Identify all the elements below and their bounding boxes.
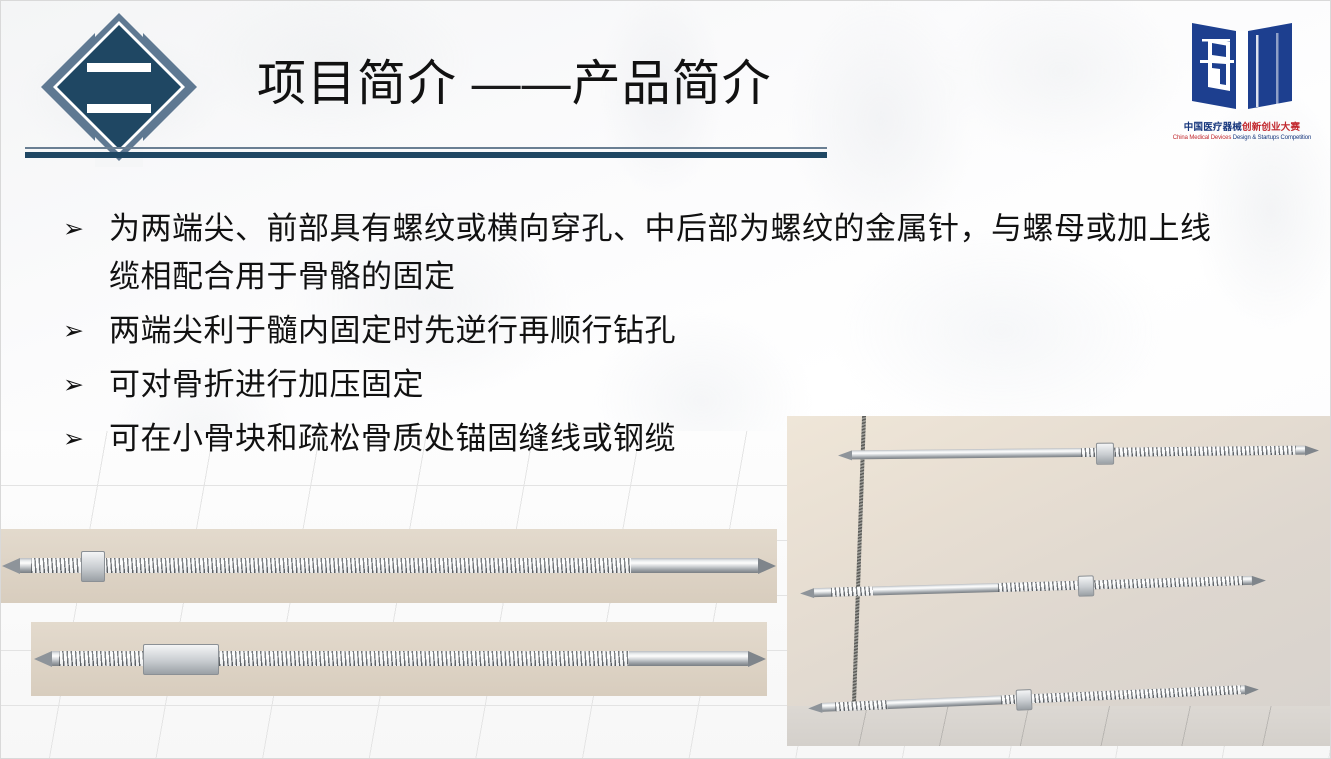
pin-nut (143, 644, 219, 675)
photo-pin-threaded-closeup (31, 622, 767, 696)
list-item-label: 可对骨折进行加压固定 (109, 361, 424, 409)
pin-thread (831, 586, 873, 596)
list-item: ➢ 为两端尖、前部具有螺纹或横向穿孔、中后部为螺纹的金属针，与螺母或加上线缆相配… (63, 205, 1223, 301)
contest-cn-accent: 创新创业大赛 (1242, 122, 1300, 133)
list-item: ➢ 两端尖利于髓内固定时先逆行再顺行钻孔 (63, 307, 1223, 355)
pin-nut (1016, 689, 1033, 711)
photo-three-pins-with-cable (787, 416, 1331, 746)
pin-tip-right (748, 651, 766, 667)
pin-nut (1096, 443, 1114, 465)
slide-root: 项目简介 ——产品简介 中国医疗器械创新创业大赛 China Medical D… (0, 0, 1331, 759)
contest-en-accent: China Medical Devices (1173, 134, 1231, 141)
page-title-sub: 产品简介 (572, 57, 772, 111)
pin-tip-left (838, 450, 852, 460)
list-item-label: 为两端尖、前部具有螺纹或横向穿孔、中后部为螺纹的金属针，与螺母或加上线缆相配合用… (109, 205, 1223, 301)
diamond-section-logo (39, 7, 199, 167)
photo-pin-with-nut-closeup (1, 529, 777, 603)
pin-shaft (51, 651, 749, 666)
pin-tip-left (800, 588, 814, 598)
page-title-main: 项目简介 (257, 57, 457, 111)
pin-tip-right (1252, 575, 1266, 585)
contest-en-plain: Design & Startups Competition (1231, 134, 1311, 141)
open-door-icon (1186, 13, 1298, 117)
pin-tip-left (34, 651, 52, 667)
page-title-separator: —— (457, 57, 572, 111)
pin-tip-right (1305, 445, 1319, 455)
list-item: ➢ 可对骨折进行加压固定 (63, 361, 1223, 409)
pin-thread (31, 558, 631, 573)
bullet-arrow-icon: ➢ (63, 415, 109, 463)
contest-logo-en-text: China Medical Devices Design & Startups … (1171, 134, 1313, 141)
list-item-label: 两端尖利于髓内固定时先逆行再顺行钻孔 (109, 307, 676, 355)
pin-shaft (19, 558, 759, 573)
pin-nut (81, 551, 105, 582)
bullet-arrow-icon: ➢ (63, 307, 109, 355)
bullet-arrow-icon: ➢ (63, 205, 109, 253)
pin-tip-left (808, 702, 822, 713)
pin-tip-left (2, 558, 20, 574)
title-rule-thick (25, 152, 827, 158)
pin-nut (1078, 575, 1095, 596)
photo-floor-grid (787, 706, 1331, 746)
list-item-label: 可在小骨块和疏松骨质处锚固缝线或钢缆 (109, 415, 676, 463)
pin-tip-right (758, 558, 776, 574)
contest-logo: 中国医疗器械创新创业大赛 China Medical Devices Desig… (1168, 13, 1316, 165)
bullet-arrow-icon: ➢ (63, 361, 109, 409)
title-rule-thin (25, 147, 827, 149)
pin-tip-right (1245, 684, 1259, 695)
contest-logo-cn-text: 中国医疗器械创新创业大赛 (1168, 119, 1316, 133)
page-title: 项目简介 ——产品简介 (257, 59, 772, 110)
contest-cn-plain: 中国医疗器械 (1184, 122, 1242, 133)
